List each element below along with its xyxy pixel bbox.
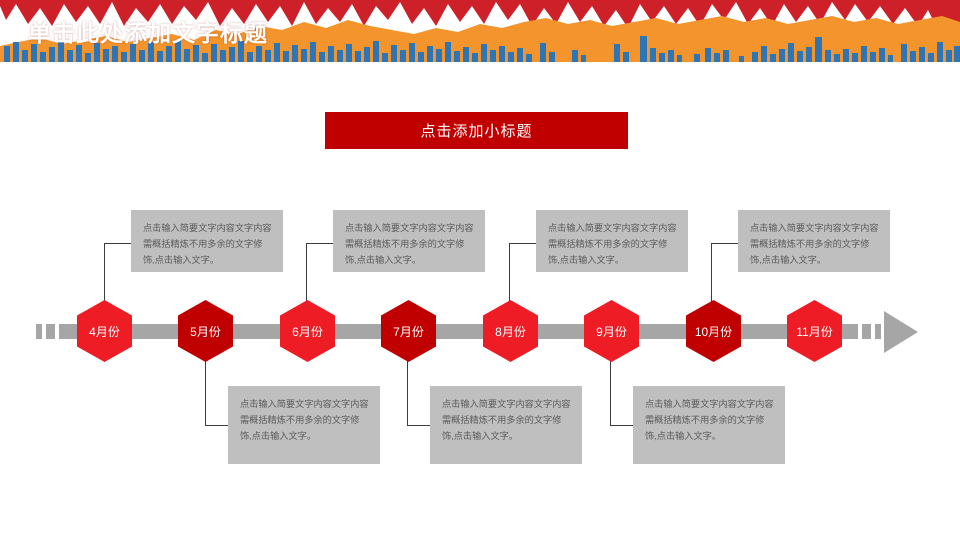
milestone-label-4: 7月份 bbox=[393, 323, 424, 340]
milestone-label-8: 11月份 bbox=[796, 323, 832, 340]
milestone-hex-3[interactable]: 6月份 bbox=[280, 300, 335, 362]
connector-vertical-bottom-1 bbox=[205, 352, 206, 426]
connector-vertical-bottom-2 bbox=[407, 352, 408, 426]
timeline-dash-lead-1 bbox=[36, 324, 42, 339]
milestone-hex-1[interactable]: 4月份 bbox=[77, 300, 132, 362]
callout-bottom-3[interactable]: 点击输入简要文字内容文字内容需概括精炼不用多余的文字修饰,点击输入文字。 bbox=[633, 386, 785, 464]
callout-top-4[interactable]: 点击输入简要文字内容文字内容需概括精炼不用多余的文字修饰,点击输入文字。 bbox=[738, 210, 890, 272]
milestone-label-6: 9月份 bbox=[596, 323, 627, 340]
milestone-label-7: 10月份 bbox=[695, 323, 732, 340]
milestone-hex-5[interactable]: 8月份 bbox=[483, 300, 538, 362]
milestone-hex-2[interactable]: 5月份 bbox=[178, 300, 233, 362]
callout-top-3[interactable]: 点击输入简要文字内容文字内容需概括精炼不用多余的文字修饰,点击输入文字。 bbox=[536, 210, 688, 272]
connector-horizontal-bottom-1 bbox=[205, 425, 229, 426]
timeline-arrow-head bbox=[884, 311, 918, 353]
callout-bottom-2[interactable]: 点击输入简要文字内容文字内容需概括精炼不用多余的文字修饰,点击输入文字。 bbox=[430, 386, 582, 464]
milestone-hex-7[interactable]: 10月份 bbox=[686, 300, 741, 362]
milestone-label-2: 5月份 bbox=[190, 323, 221, 340]
connector-horizontal-top-4 bbox=[711, 243, 739, 244]
subtitle-banner[interactable]: 点击添加小标题 bbox=[325, 112, 628, 149]
connector-vertical-bottom-3 bbox=[610, 352, 611, 426]
timeline-dash-trail-3 bbox=[875, 324, 881, 339]
timeline-dash-trail-2 bbox=[862, 324, 871, 339]
timeline-dash-lead-2 bbox=[46, 324, 55, 339]
page-title: 单击此处添加文字标题 bbox=[28, 14, 268, 48]
subtitle-banner-label: 点击添加小标题 bbox=[420, 120, 532, 141]
milestone-label-1: 4月份 bbox=[89, 323, 120, 340]
timeline-segment-7 bbox=[735, 324, 794, 339]
connector-horizontal-bottom-2 bbox=[407, 425, 431, 426]
callout-top-2[interactable]: 点击输入简要文字内容文字内容需概括精炼不用多余的文字修饰,点击输入文字。 bbox=[333, 210, 485, 272]
callout-bottom-1[interactable]: 点击输入简要文字内容文字内容需概括精炼不用多余的文字修饰,点击输入文字。 bbox=[228, 386, 380, 464]
timeline-segment-2 bbox=[227, 324, 288, 339]
connector-horizontal-top-2 bbox=[306, 243, 334, 244]
connector-horizontal-top-1 bbox=[104, 243, 132, 244]
milestone-hex-6[interactable]: 9月份 bbox=[584, 300, 639, 362]
timeline-segment-4 bbox=[430, 324, 491, 339]
timeline-segment-1 bbox=[126, 324, 186, 339]
milestone-label-3: 6月份 bbox=[292, 323, 323, 340]
timeline-segment-5 bbox=[532, 324, 592, 339]
milestone-hex-8[interactable]: 11月份 bbox=[787, 300, 842, 362]
timeline-segment-6 bbox=[633, 324, 694, 339]
milestone-label-5: 8月份 bbox=[495, 323, 526, 340]
connector-horizontal-top-3 bbox=[509, 243, 537, 244]
timeline-segment-3 bbox=[329, 324, 389, 339]
milestone-hex-4[interactable]: 7月份 bbox=[381, 300, 436, 362]
connector-horizontal-bottom-3 bbox=[610, 425, 634, 426]
callout-top-1[interactable]: 点击输入简要文字内容文字内容需概括精炼不用多余的文字修饰,点击输入文字。 bbox=[131, 210, 283, 272]
